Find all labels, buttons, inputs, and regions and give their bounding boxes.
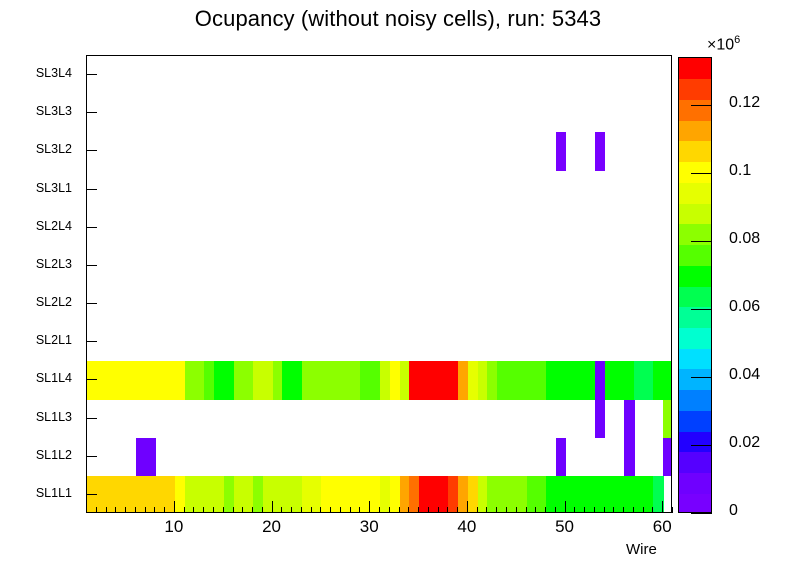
palette-band xyxy=(679,286,711,307)
palette-band xyxy=(679,348,711,369)
plot-frame xyxy=(86,55,672,513)
y-axis-label: SL1L1 xyxy=(0,486,72,500)
palette-exponent-base: ×10 xyxy=(707,36,734,53)
x-axis-minor-tick xyxy=(262,507,263,513)
x-axis-minor-tick xyxy=(242,507,243,513)
x-axis-minor-tick xyxy=(115,507,116,513)
x-axis-minor-tick xyxy=(574,507,575,513)
x-axis-minor-tick xyxy=(535,507,536,513)
y-axis-tick xyxy=(86,456,97,457)
x-axis-minor-tick xyxy=(164,507,165,513)
x-axis-minor-tick xyxy=(320,507,321,513)
x-axis-minor-tick xyxy=(359,507,360,513)
palette-band xyxy=(679,410,711,431)
x-axis-minor-tick xyxy=(252,507,253,513)
y-axis-tick xyxy=(86,303,97,304)
palette-exponent-power: 6 xyxy=(734,34,740,46)
y-axis-label: SL2L4 xyxy=(0,219,72,233)
palette-tick xyxy=(691,377,712,378)
x-axis-major-tick xyxy=(174,501,175,513)
x-axis-minor-tick xyxy=(389,507,390,513)
palette-band xyxy=(679,431,711,452)
x-axis-minor-tick xyxy=(486,507,487,513)
palette-band xyxy=(679,327,711,348)
y-axis-label: SL3L3 xyxy=(0,104,72,118)
palette-tick-label: 0 xyxy=(729,502,738,520)
y-axis-tick xyxy=(86,112,97,113)
x-axis-minor-tick xyxy=(301,507,302,513)
palette-tick xyxy=(691,241,712,242)
y-axis-label: SL2L3 xyxy=(0,257,72,271)
x-axis-minor-tick xyxy=(447,507,448,513)
palette-band xyxy=(679,203,711,224)
palette-band xyxy=(679,120,711,141)
palette-band xyxy=(679,265,711,286)
x-axis-minor-tick xyxy=(145,507,146,513)
x-axis-minor-tick xyxy=(584,507,585,513)
y-axis-label: SL3L4 xyxy=(0,66,72,80)
palette-tick-label: 0.06 xyxy=(729,298,760,316)
palette-tick-label: 0.12 xyxy=(729,94,760,112)
y-axis-label: SL3L1 xyxy=(0,181,72,195)
x-axis-minor-tick xyxy=(545,507,546,513)
palette-band xyxy=(679,473,711,494)
x-axis-minor-tick xyxy=(330,507,331,513)
heatmap-cell xyxy=(556,438,566,477)
heatmap-cell xyxy=(556,132,566,171)
heatmap-cells xyxy=(87,56,671,512)
x-axis-major-tick xyxy=(272,501,273,513)
x-axis-minor-tick xyxy=(408,507,409,513)
x-axis-minor-tick xyxy=(350,507,351,513)
x-axis-major-tick xyxy=(662,501,663,513)
heatmap-cell xyxy=(595,400,605,439)
y-axis-label: SL1L2 xyxy=(0,448,72,462)
palette-tick xyxy=(691,105,712,106)
palette-band xyxy=(679,452,711,473)
heatmap-cell xyxy=(595,132,605,171)
x-axis-minor-tick xyxy=(135,507,136,513)
x-axis-minor-tick xyxy=(213,507,214,513)
x-axis-minor-tick xyxy=(223,507,224,513)
y-axis-tick xyxy=(86,189,97,190)
y-axis-tick xyxy=(86,379,97,380)
palette-tick xyxy=(691,173,712,174)
palette-band xyxy=(679,390,711,411)
x-axis-tick-label: 10 xyxy=(149,517,199,537)
x-axis-minor-tick xyxy=(457,507,458,513)
x-axis-minor-tick xyxy=(125,507,126,513)
palette-tick-label: 0.08 xyxy=(729,230,760,248)
x-axis-minor-tick xyxy=(233,507,234,513)
palette-band xyxy=(679,493,711,513)
x-axis-minor-tick xyxy=(633,507,634,513)
x-axis-major-tick xyxy=(369,501,370,513)
x-axis-tick-label: 40 xyxy=(442,517,492,537)
heatmap-cell xyxy=(624,438,634,477)
palette-tick xyxy=(691,445,712,446)
y-axis-label: SL1L4 xyxy=(0,371,72,385)
heatmap-cell xyxy=(663,361,671,400)
palette-tick-label: 0.02 xyxy=(729,434,760,452)
palette-exponent: ×106 xyxy=(707,34,740,54)
palette-tick-label: 0.04 xyxy=(729,366,760,384)
y-axis-tick xyxy=(86,265,97,266)
y-axis-tick xyxy=(86,150,97,151)
x-axis-minor-tick xyxy=(418,507,419,513)
palette-band xyxy=(679,141,711,162)
page-title: Ocupancy (without noisy cells), run: 534… xyxy=(0,6,796,32)
x-axis-tick-label: 20 xyxy=(247,517,297,537)
x-axis-title: Wire xyxy=(626,541,657,558)
y-axis-tick xyxy=(86,418,97,419)
x-axis-major-tick xyxy=(565,501,566,513)
x-axis-minor-tick xyxy=(340,507,341,513)
x-axis-major-tick xyxy=(467,501,468,513)
x-axis-minor-tick xyxy=(438,507,439,513)
palette-band xyxy=(679,369,711,390)
x-axis-tick-label: 30 xyxy=(344,517,394,537)
x-axis-minor-tick xyxy=(193,507,194,513)
x-axis-minor-tick xyxy=(672,507,673,513)
palette-tick xyxy=(691,513,712,514)
palette-band xyxy=(679,79,711,100)
x-axis-minor-tick xyxy=(106,507,107,513)
y-axis-tick xyxy=(86,74,97,75)
x-axis-minor-tick xyxy=(379,507,380,513)
root-canvas: Ocupancy (without noisy cells), run: 534… xyxy=(0,0,796,572)
x-axis-minor-tick xyxy=(643,507,644,513)
x-axis-minor-tick xyxy=(526,507,527,513)
y-axis-label: SL2L1 xyxy=(0,333,72,347)
heatmap-cell xyxy=(663,400,671,439)
y-axis-tick xyxy=(86,227,97,228)
x-axis-minor-tick xyxy=(184,507,185,513)
palette-tick xyxy=(691,309,712,310)
heatmap-cell xyxy=(663,438,671,477)
y-axis-tick xyxy=(86,341,97,342)
x-axis-minor-tick xyxy=(86,507,87,513)
x-axis-minor-tick xyxy=(203,507,204,513)
palette-band xyxy=(679,99,711,120)
x-axis-minor-tick xyxy=(428,507,429,513)
x-axis-minor-tick xyxy=(399,507,400,513)
x-axis-minor-tick xyxy=(652,507,653,513)
x-axis-minor-tick xyxy=(516,507,517,513)
heatmap-cell xyxy=(146,438,156,477)
x-axis-minor-tick xyxy=(291,507,292,513)
x-axis-tick-label: 60 xyxy=(637,517,687,537)
x-axis-tick-label: 50 xyxy=(540,517,590,537)
y-axis-label: SL1L3 xyxy=(0,410,72,424)
y-axis-label: SL3L2 xyxy=(0,142,72,156)
x-axis-minor-tick xyxy=(613,507,614,513)
x-axis-minor-tick xyxy=(506,507,507,513)
y-axis-label: SL2L2 xyxy=(0,295,72,309)
heatmap-cell xyxy=(624,400,634,439)
palette-tick-label: 0.1 xyxy=(729,162,751,180)
x-axis-minor-tick xyxy=(154,507,155,513)
x-axis-minor-tick xyxy=(311,507,312,513)
x-axis-minor-tick xyxy=(623,507,624,513)
y-axis-tick xyxy=(86,494,97,495)
palette-band xyxy=(679,58,711,79)
x-axis-minor-tick xyxy=(496,507,497,513)
x-axis-minor-tick xyxy=(477,507,478,513)
x-axis-minor-tick xyxy=(281,507,282,513)
x-axis-minor-tick xyxy=(555,507,556,513)
x-axis-minor-tick xyxy=(604,507,605,513)
x-axis-minor-tick xyxy=(96,507,97,513)
palette-band xyxy=(679,182,711,203)
palette-band xyxy=(679,245,711,266)
x-axis-minor-tick xyxy=(594,507,595,513)
